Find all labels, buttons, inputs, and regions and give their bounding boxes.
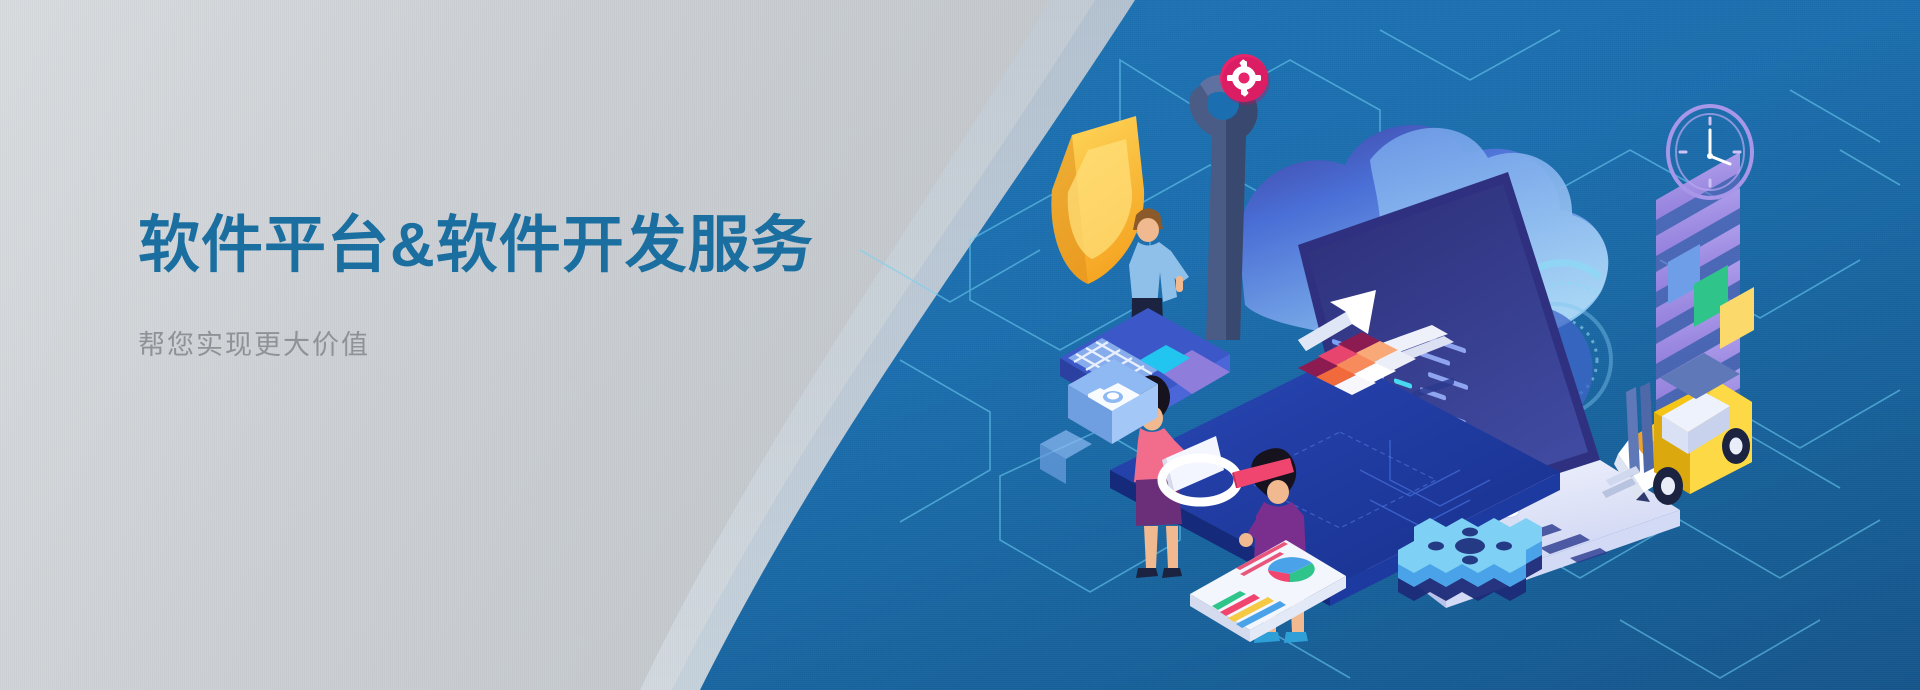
page-title: 软件平台&软件开发服务 <box>138 210 814 281</box>
hero-banner: 软件平台&软件开发服务 帮您实现更大价值 <box>0 0 1920 690</box>
hero-illustration <box>1040 40 1920 660</box>
hero-text-block: 软件平台&软件开发服务 帮您实现更大价值 <box>138 210 814 362</box>
clock-icon <box>1668 106 1752 198</box>
page-subtitle: 帮您实现更大价值 <box>138 323 814 362</box>
forklift-icon <box>1602 353 1752 505</box>
gears-stack-icon <box>1398 518 1542 601</box>
shield-icon <box>1051 116 1144 284</box>
platform-tile-accent <box>1040 430 1092 484</box>
